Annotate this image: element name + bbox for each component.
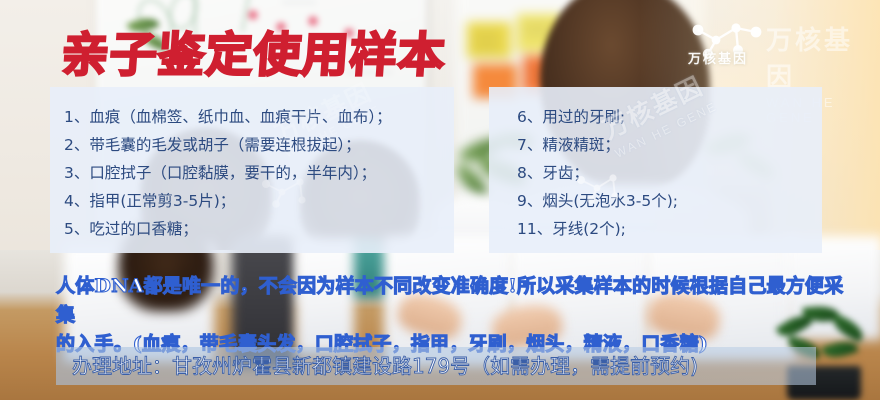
address-text: 办理地址：甘孜州炉霍县新都镇建设路179号（如需办理，需提前预约)	[72, 350, 832, 382]
sample-list-panel-left: 1、血痕（血棉签、纸巾血、血痕干片、血布）； 2、带毛囊的毛发或胡子（需要连根拔…	[50, 87, 454, 253]
note-line-1: 人体DNA都是唯一的，不会因为样本不同改变准确度!所以采集样本的时候根据自己最方…	[56, 272, 846, 330]
sample-list-right: 6、用过的牙刷; 7、精液精斑； 8、牙齿； 9、烟头(无泡水3-5个); 11…	[489, 87, 822, 243]
sample-list-panel-right: 6、用过的牙刷; 7、精液精斑； 8、牙齿； 9、烟头(无泡水3-5个); 11…	[489, 87, 822, 253]
list-item: 7、精液精斑；	[517, 131, 822, 159]
page-title: 亲子鉴定使用样本	[60, 16, 449, 85]
note-paragraph: 人体DNA都是唯一的，不会因为样本不同改变准确度!所以采集样本的时候根据自己最方…	[56, 272, 846, 359]
list-item: 3、口腔拭子（口腔黏膜，要干的，半年内）；	[64, 159, 454, 187]
list-item: 11、牙线(2个);	[517, 215, 822, 243]
list-item: 8、牙齿；	[517, 159, 822, 187]
brand-name: 万核基因	[688, 48, 748, 67]
list-item: 4、指甲(正常剪3-5片)；	[64, 187, 454, 215]
list-item: 2、带毛囊的毛发或胡子（需要连根拔起）；	[64, 131, 454, 159]
list-item: 6、用过的牙刷;	[517, 103, 822, 131]
list-item: 1、血痕（血棉签、纸巾血、血痕干片、血布）；	[64, 103, 454, 131]
poster-canvas: 万核基因 万核基因 WAN HE GENE 亲子鉴定使用样本 1、血痕（血棉签、…	[0, 0, 880, 400]
sample-list-left: 1、血痕（血棉签、纸巾血、血痕干片、血布）； 2、带毛囊的毛发或胡子（需要连根拔…	[50, 87, 454, 243]
list-item: 5、吃过的口香糖；	[64, 215, 454, 243]
list-item: 9、烟头(无泡水3-5个);	[517, 187, 822, 215]
